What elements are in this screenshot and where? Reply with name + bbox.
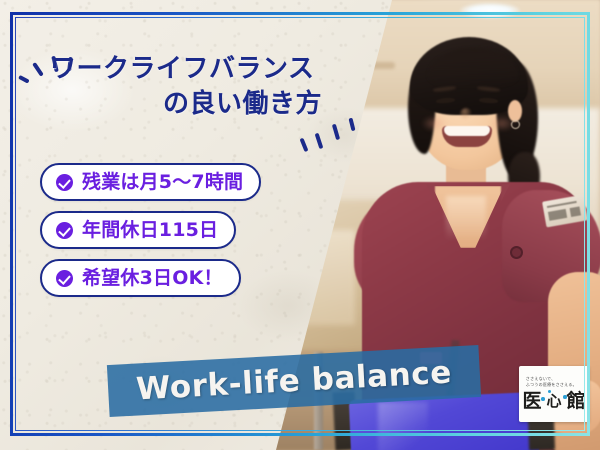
- feature-pill-annual-holidays[interactable]: 年間休日115日: [40, 211, 236, 249]
- check-circle-icon: [56, 174, 73, 191]
- logo-kanji-shin: 心: [542, 394, 565, 409]
- teeth: [444, 126, 490, 136]
- check-circle-icon: [56, 270, 73, 287]
- logo-kanji-kan: 館: [567, 392, 586, 411]
- logo-kanji-i: 医: [522, 392, 541, 411]
- feature-label: 残業は月5〜7時間: [82, 173, 243, 192]
- cart-highlight: [378, 402, 428, 450]
- collar-highlight: [446, 196, 486, 240]
- scrub-snap-button: [510, 246, 523, 259]
- feature-pill-requested-days-off[interactable]: 希望休3日OK！: [40, 259, 241, 297]
- feature-list: 残業は月5〜7時間 年間休日115日 希望休3日OK！: [40, 163, 261, 307]
- headline-line-2: の良い働き方: [28, 87, 328, 122]
- ear: [508, 100, 522, 122]
- badge-line-3: [570, 206, 581, 217]
- smiling-mouth: [442, 126, 492, 147]
- logo-dot-left-icon: [541, 397, 545, 401]
- logo-kanji-shin-glyph: 心: [546, 392, 561, 410]
- check-circle-icon: [56, 222, 73, 239]
- logo-wordmark: 医 心 館: [522, 392, 585, 411]
- earring: [511, 120, 520, 129]
- brand-logo[interactable]: ささえないで、 ふつうの医療をささえる。 医 心 館: [519, 366, 589, 422]
- feature-label: 希望休3日OK！: [82, 269, 223, 288]
- logo-tagline-line-2: ふつうの医療をささえる。: [522, 382, 577, 388]
- badge-line-2: [548, 209, 567, 221]
- nose: [460, 108, 472, 120]
- banner-label: Work-life balance: [135, 354, 453, 407]
- page-title: ワークライフバランス の良い働き方: [28, 52, 328, 121]
- feature-label: 年間休日115日: [82, 221, 218, 240]
- feature-pill-overtime[interactable]: 残業は月5〜7時間: [40, 163, 261, 201]
- logo-tagline-line-1: ささえないで、: [522, 376, 555, 382]
- logo-dot-right-icon: [563, 395, 567, 399]
- poster-canvas: ワークライフバランス の良い働き方 残業は月5〜7時間 年間休日115日 希望休…: [0, 0, 600, 450]
- headline-line-1: ワークライフバランス: [28, 52, 328, 87]
